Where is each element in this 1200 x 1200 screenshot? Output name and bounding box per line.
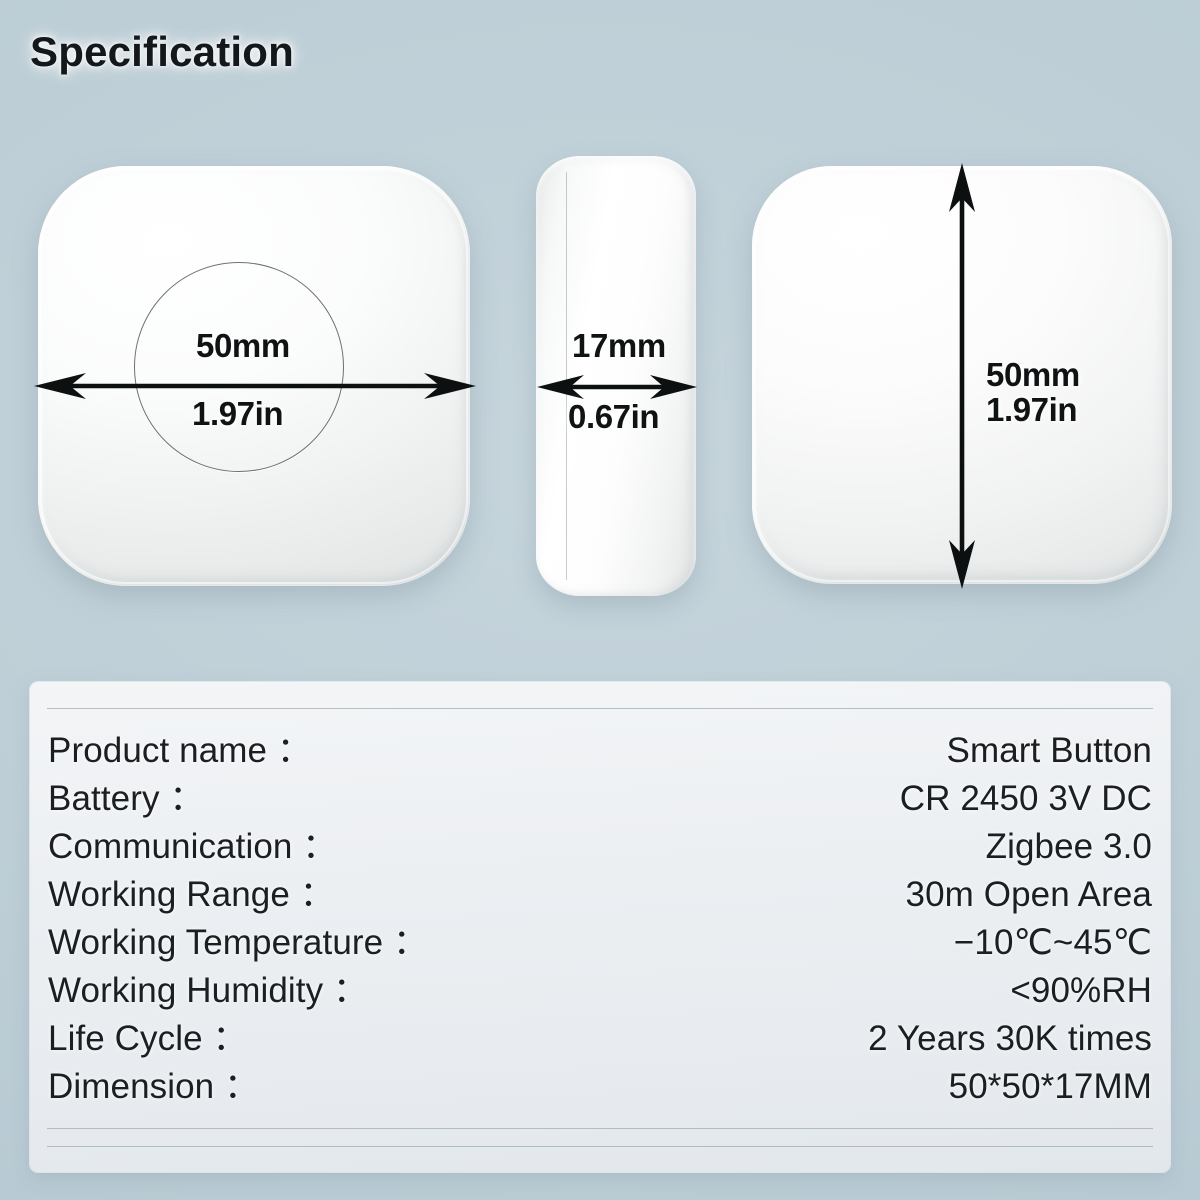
spec-value: 2 Years 30K times bbox=[868, 1019, 1152, 1059]
spec-label: Communication ： bbox=[48, 818, 337, 869]
table-row: Dimension ： 50*50*17MM bbox=[48, 1058, 1152, 1106]
panel-divider-bottom-2 bbox=[47, 1146, 1153, 1147]
back-dimension-mm: 50mm bbox=[986, 358, 1080, 393]
page-title: Specification bbox=[30, 28, 294, 76]
table-row: Working Humidity ： <90%RH bbox=[48, 962, 1152, 1010]
specification-page: Specification 50mm 1.97in 17mm 0.67in 50… bbox=[0, 0, 1200, 1200]
spec-value: 30m Open Area bbox=[906, 875, 1152, 915]
front-dimension-mm: 50mm bbox=[196, 327, 290, 365]
spec-value: <90%RH bbox=[1010, 971, 1152, 1011]
back-dimension-label: 50mm 1.97in bbox=[986, 358, 1080, 428]
spec-value: −10℃~45℃ bbox=[954, 923, 1152, 963]
side-dimension-in: 0.67in bbox=[568, 398, 659, 436]
spec-value: 50*50*17MM bbox=[949, 1067, 1152, 1107]
spec-value: CR 2450 3V DC bbox=[900, 779, 1152, 819]
spec-label: Working Temperature ： bbox=[48, 914, 428, 965]
side-dimension-mm: 17mm bbox=[572, 327, 666, 365]
table-row: Communication ： Zigbee 3.0 bbox=[48, 818, 1152, 866]
specification-table: Product name ： Smart Button Battery ： CR… bbox=[48, 722, 1152, 1106]
spec-value: Zigbee 3.0 bbox=[986, 827, 1152, 867]
table-row: Product name ： Smart Button bbox=[48, 722, 1152, 770]
spec-label: Working Range ： bbox=[48, 866, 335, 917]
spec-label: Product name ： bbox=[48, 722, 312, 773]
table-row: Working Range ： 30m Open Area bbox=[48, 866, 1152, 914]
spec-value: Smart Button bbox=[947, 731, 1152, 771]
panel-divider-top bbox=[47, 708, 1153, 709]
front-dimension-in: 1.97in bbox=[192, 395, 283, 433]
table-row: Working Temperature ： −10℃~45℃ bbox=[48, 914, 1152, 962]
spec-label: Life Cycle ： bbox=[48, 1010, 248, 1061]
vertical-double-arrow-icon-back bbox=[936, 160, 988, 592]
table-row: Battery ： CR 2450 3V DC bbox=[48, 770, 1152, 818]
back-dimension-in: 1.97in bbox=[986, 393, 1080, 428]
spec-label: Working Humidity ： bbox=[48, 962, 368, 1013]
spec-label: Battery ： bbox=[48, 770, 205, 821]
panel-divider-bottom-1 bbox=[47, 1128, 1153, 1129]
specification-panel: Product name ： Smart Button Battery ： CR… bbox=[30, 682, 1170, 1172]
spec-label: Dimension ： bbox=[48, 1058, 259, 1109]
table-row: Life Cycle ： 2 Years 30K times bbox=[48, 1010, 1152, 1058]
